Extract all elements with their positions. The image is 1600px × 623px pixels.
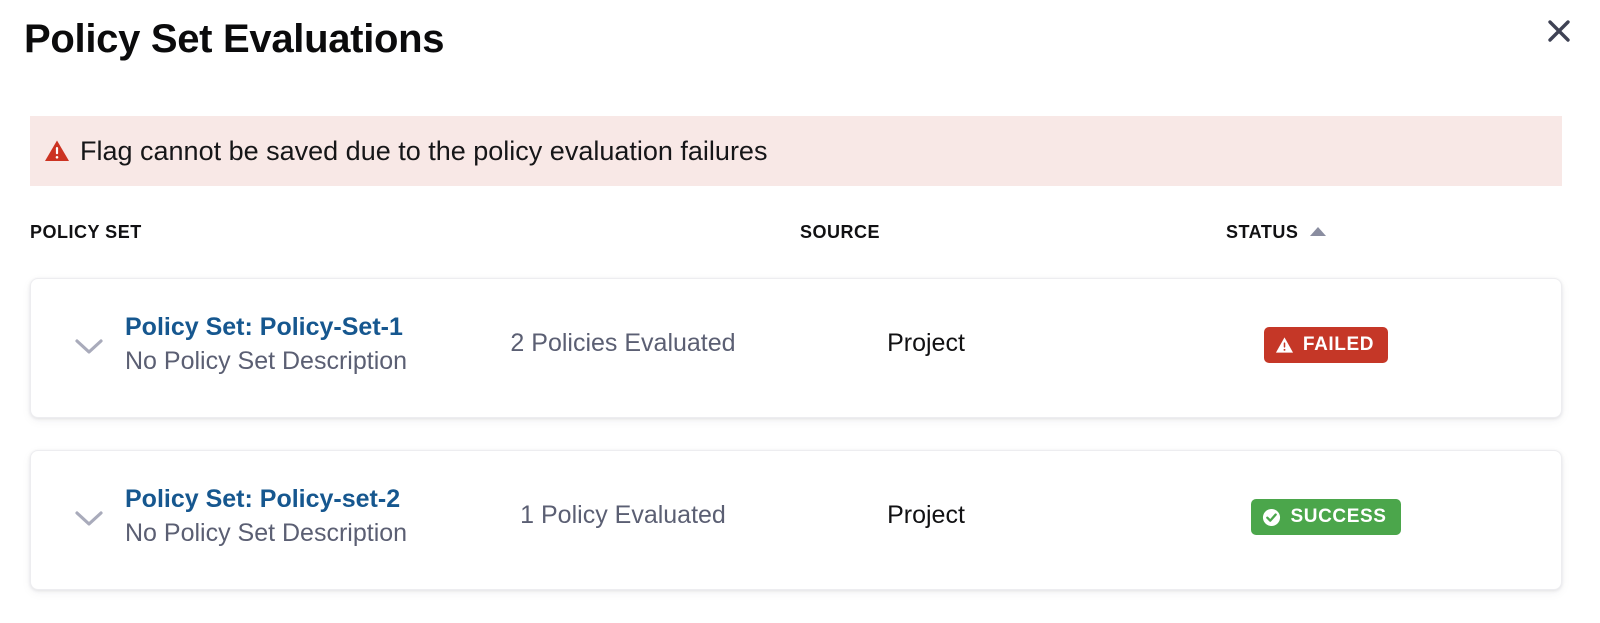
close-icon xyxy=(1546,18,1572,44)
policy-set-source: Project xyxy=(831,329,1021,358)
status-badge-failed: FAILED xyxy=(1264,327,1388,363)
close-button[interactable] xyxy=(1540,12,1578,50)
status-badge-label: SUCCESS xyxy=(1290,506,1386,528)
column-header-source[interactable]: SOURCE xyxy=(800,222,880,243)
chevron-down-icon xyxy=(74,338,104,361)
table-row[interactable]: Policy Set: Policy-set-2 No Policy Set D… xyxy=(30,450,1562,590)
column-header-status[interactable]: STATUS xyxy=(1226,222,1326,243)
row-expand-toggle[interactable] xyxy=(69,501,109,541)
chevron-down-icon xyxy=(74,510,104,533)
policies-evaluated-count: 1 Policy Evaluated xyxy=(453,501,793,530)
policy-set-link[interactable]: Policy Set: Policy-set-2 xyxy=(125,483,455,517)
status-badge-success: SUCCESS xyxy=(1251,499,1400,535)
policy-set-name-block: Policy Set: Policy-Set-1 No Policy Set D… xyxy=(125,311,455,379)
warning-triangle-icon xyxy=(1275,336,1294,354)
row-expand-toggle[interactable] xyxy=(69,329,109,369)
column-header-status-label: STATUS xyxy=(1226,222,1298,243)
table-row[interactable]: Policy Set: Policy-Set-1 No Policy Set D… xyxy=(30,278,1562,418)
column-header-policy-set[interactable]: POLICY SET xyxy=(30,222,142,243)
policy-set-link[interactable]: Policy Set: Policy-Set-1 xyxy=(125,311,455,345)
alert-message: Flag cannot be saved due to the policy e… xyxy=(80,135,767,167)
policy-set-description: No Policy Set Description xyxy=(125,517,455,551)
policy-set-status: SUCCESS xyxy=(1181,499,1471,535)
policy-set-status: FAILED xyxy=(1181,327,1471,363)
check-circle-icon xyxy=(1262,508,1281,527)
table-header: POLICY SET SOURCE STATUS xyxy=(0,210,1600,258)
policy-set-description: No Policy Set Description xyxy=(125,345,455,379)
warning-triangle-icon xyxy=(44,138,70,164)
page-title: Policy Set Evaluations xyxy=(24,16,1570,62)
policy-failure-alert: Flag cannot be saved due to the policy e… xyxy=(30,116,1562,186)
policy-set-name-block: Policy Set: Policy-set-2 No Policy Set D… xyxy=(125,483,455,551)
sort-ascending-triangle-icon xyxy=(1310,227,1326,236)
policy-set-source: Project xyxy=(831,501,1021,530)
policy-set-list: Policy Set: Policy-Set-1 No Policy Set D… xyxy=(0,278,1600,622)
policies-evaluated-count: 2 Policies Evaluated xyxy=(453,329,793,358)
status-badge-label: FAILED xyxy=(1303,334,1374,356)
modal-header: Policy Set Evaluations xyxy=(0,0,1600,78)
